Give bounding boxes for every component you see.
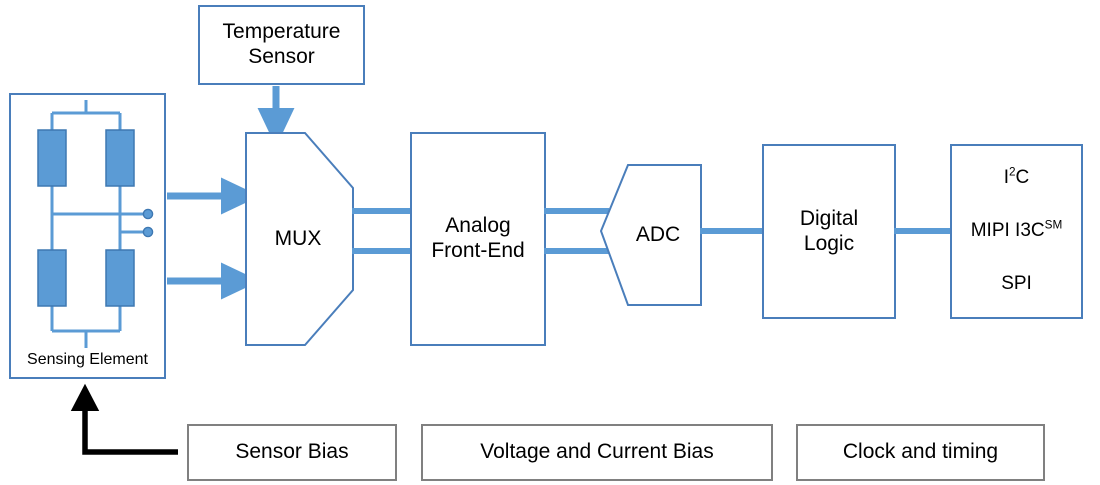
mipi-i3c-superscript: SM <box>1045 219 1063 232</box>
voltage-current-bias-box[interactable] <box>422 425 772 480</box>
spi-text: SPI <box>1001 273 1032 294</box>
interface-line-mipi-i3c: MIPI I3CSM <box>951 220 1082 242</box>
interface-line-spi: SPI <box>951 273 1082 295</box>
mipi-i3c-text: MIPI I3C <box>971 220 1045 241</box>
adc-block[interactable] <box>601 165 701 305</box>
block-diagram-canvas: Sensing Element Temperature Sensor MUX A… <box>0 0 1100 485</box>
interface-label-group: I2C MIPI I3CSM SPI <box>951 145 1082 318</box>
sensor-bias-box[interactable] <box>188 425 396 480</box>
resistor-top-right <box>106 130 134 186</box>
resistor-top-left <box>38 130 66 186</box>
temperature-sensor-box[interactable] <box>199 6 364 84</box>
connector-sensor-bias-to-sensing-element <box>85 398 178 452</box>
node-dot-lower <box>143 227 152 236</box>
mux-block[interactable] <box>246 133 353 345</box>
digital-logic-box[interactable] <box>763 145 895 318</box>
resistor-bottom-right <box>106 250 134 306</box>
i2c-tail: C <box>1016 167 1030 188</box>
analog-front-end-box[interactable] <box>411 133 545 345</box>
node-dot-upper <box>143 209 152 218</box>
resistor-bottom-left <box>38 250 66 306</box>
clock-timing-box[interactable] <box>797 425 1044 480</box>
interface-line-i2c: I2C <box>951 167 1082 189</box>
diagram-vector-layer <box>0 0 1100 485</box>
